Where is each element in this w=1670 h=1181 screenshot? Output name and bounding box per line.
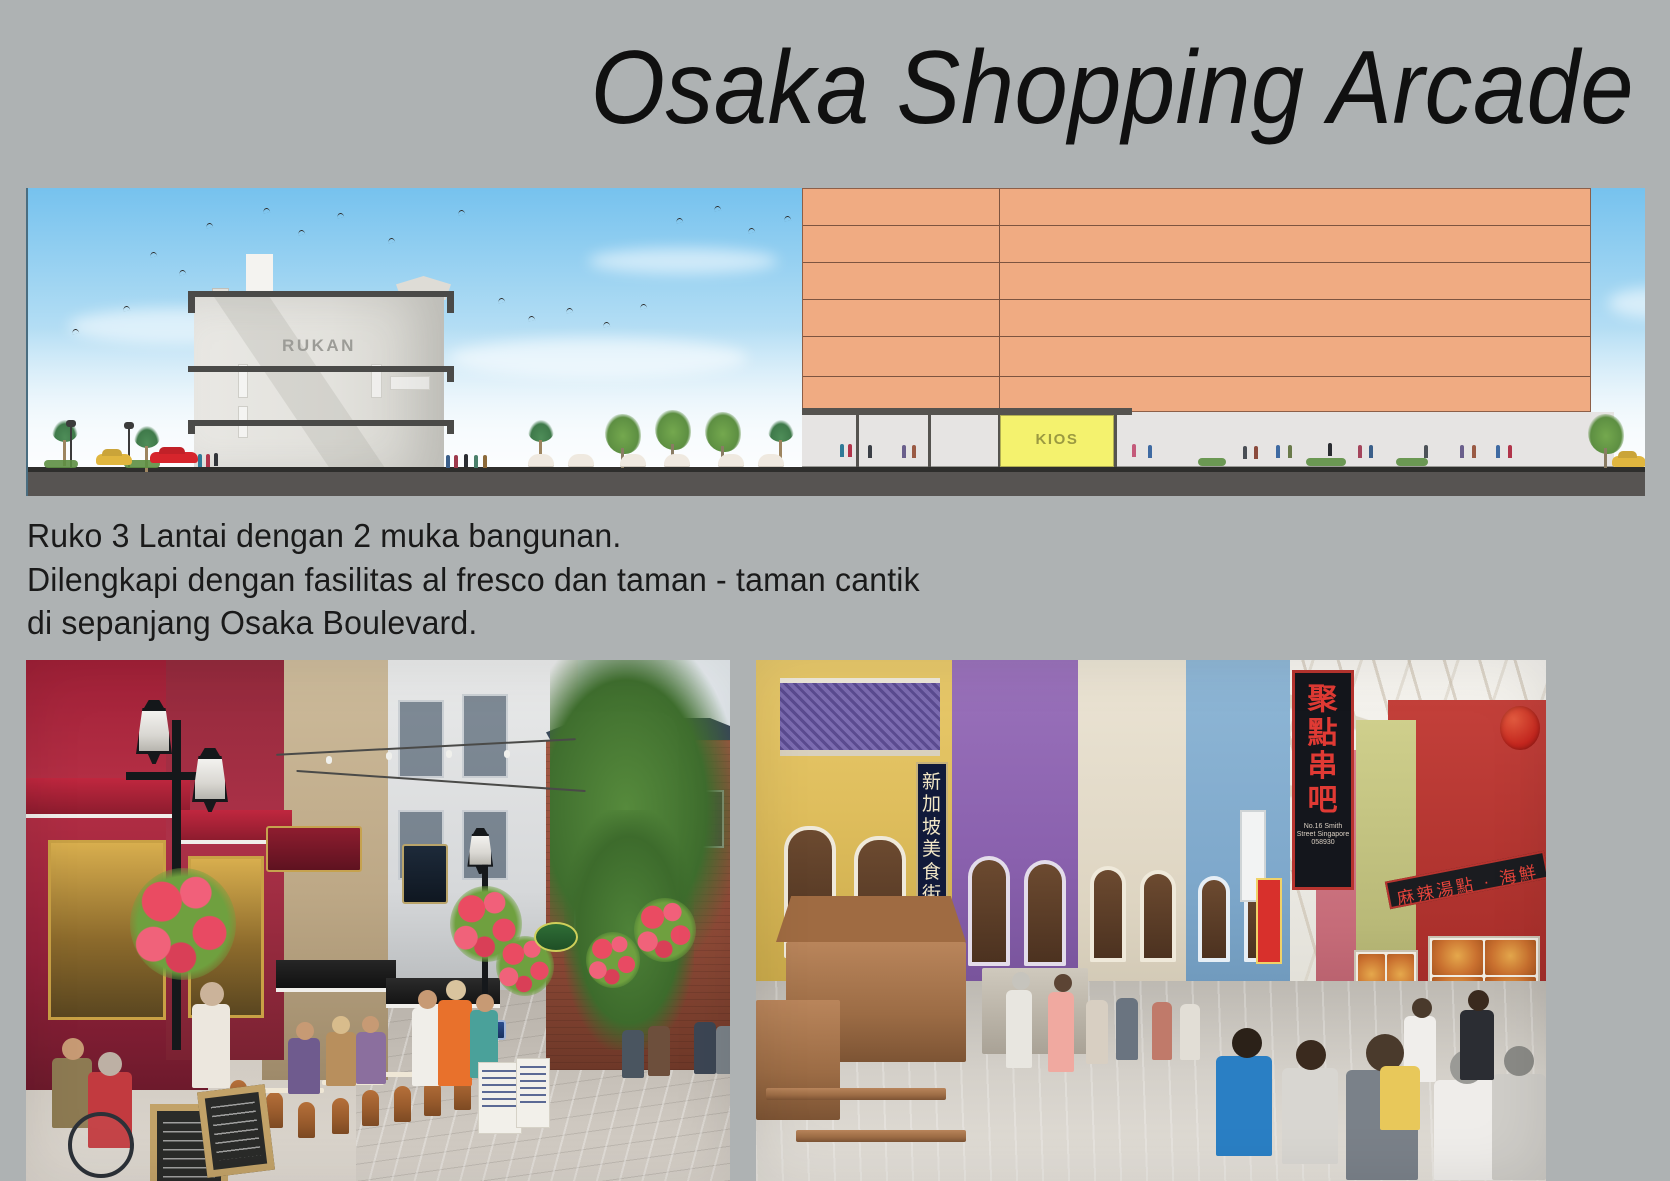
person-figure xyxy=(1328,443,1332,456)
person-head xyxy=(62,1038,84,1060)
person-figure xyxy=(1180,1004,1200,1060)
string-light-bulb xyxy=(386,752,392,760)
person-figure xyxy=(1472,445,1476,458)
description-line-3: di sepanjang Osaka Boulevard. xyxy=(27,601,920,645)
shop-sign xyxy=(266,826,362,872)
vertical-shop-sign-red: 聚點串吧 No.16 Smith Street Singapore 058930 xyxy=(1292,670,1354,890)
person-figure xyxy=(1369,445,1373,458)
person-figure xyxy=(1460,445,1464,458)
parked-car xyxy=(150,452,198,463)
wheelchair xyxy=(68,1112,134,1178)
person-head xyxy=(446,980,466,1000)
building-window xyxy=(462,694,508,778)
cafe-umbrella xyxy=(528,454,554,466)
street-lantern xyxy=(130,700,178,766)
cafe-chair xyxy=(298,1102,315,1138)
food-stall-counter xyxy=(756,1000,840,1120)
person-figure xyxy=(902,445,906,458)
cafe-umbrella xyxy=(568,454,594,466)
person-figure xyxy=(1216,1056,1272,1156)
hanging-flower-basket xyxy=(586,932,640,988)
bird-icon xyxy=(72,329,80,335)
street-lantern xyxy=(186,748,234,814)
person-head xyxy=(296,1022,314,1040)
shop-sign xyxy=(534,922,578,952)
person-figure xyxy=(1282,1068,1338,1164)
retail-facade-block xyxy=(802,188,1591,412)
facade-band-line xyxy=(803,376,1590,377)
vertical-shop-sign-red-subtitle: No.16 Smith Street Singapore 058930 xyxy=(1295,823,1351,846)
person-figure xyxy=(1116,998,1138,1060)
bird-icon xyxy=(640,304,648,310)
person-figure xyxy=(483,455,487,468)
person-figure xyxy=(1086,1000,1108,1064)
dining-table xyxy=(796,1130,966,1142)
paper-lantern xyxy=(1500,706,1540,750)
shop-awning xyxy=(276,960,396,992)
page-title: Osaka Shopping Arcade xyxy=(131,34,1634,143)
shop-awning xyxy=(26,778,190,818)
person-figure xyxy=(848,444,852,457)
cafe-chair xyxy=(394,1086,411,1122)
person-figure xyxy=(214,453,218,466)
person-figure xyxy=(1424,445,1428,458)
rukan-column xyxy=(447,420,454,434)
person-figure xyxy=(1148,445,1152,458)
shrub xyxy=(44,460,78,468)
string-light-bulb xyxy=(504,750,510,758)
person-head xyxy=(1296,1040,1326,1070)
person-head xyxy=(1504,1046,1534,1076)
person-head xyxy=(1412,998,1432,1018)
rukan-column xyxy=(188,420,195,434)
shophouse-balcony xyxy=(780,678,940,756)
bird-icon xyxy=(206,223,214,229)
person-figure xyxy=(446,455,450,468)
dining-table xyxy=(766,1088,946,1100)
shophouse-arched-window xyxy=(1140,870,1176,962)
description-line-1: Ruko 3 Lantai dengan 2 muka bangunan. xyxy=(27,514,920,558)
person-figure xyxy=(1132,444,1136,457)
retail-unit-divider xyxy=(856,415,859,467)
bird-icon xyxy=(566,308,574,314)
bird-icon xyxy=(748,228,756,234)
bird-icon xyxy=(603,322,611,328)
person-figure xyxy=(694,1022,716,1074)
person-figure xyxy=(192,1004,230,1088)
person-figure xyxy=(474,455,478,468)
cloud xyxy=(448,338,748,378)
person-figure xyxy=(1288,445,1292,458)
string-light-bulb xyxy=(446,750,452,758)
bird-icon xyxy=(388,238,396,244)
retail-canopy xyxy=(802,408,1132,415)
person-head xyxy=(476,994,494,1012)
parked-car xyxy=(1612,456,1645,467)
facade-band-line xyxy=(803,225,1590,226)
shrub xyxy=(1198,458,1226,466)
person-figure xyxy=(1508,445,1512,458)
person-figure xyxy=(438,1000,472,1086)
string-light-bulb xyxy=(326,756,332,764)
cafe-umbrella xyxy=(620,454,646,466)
bird-icon xyxy=(714,206,722,212)
person-figure xyxy=(912,445,916,458)
rukan-building-label: RUKAN xyxy=(194,336,444,356)
bird-icon xyxy=(123,306,131,312)
al-fresco-dining-street-photo xyxy=(26,660,730,1181)
person-figure xyxy=(1006,990,1032,1068)
person-head xyxy=(332,1016,350,1034)
parked-car xyxy=(96,454,132,465)
bird-icon xyxy=(498,298,506,304)
shrub xyxy=(1396,458,1428,466)
retail-unit-divider xyxy=(928,415,931,467)
rukan-window xyxy=(390,376,430,390)
ground-plane xyxy=(28,472,1645,496)
person-head xyxy=(1012,972,1030,990)
person-figure xyxy=(648,1026,670,1076)
shrub xyxy=(1306,458,1346,466)
food-stall-roof xyxy=(776,896,966,942)
vertical-shop-sign-red-text: 聚點串吧 xyxy=(1308,683,1339,817)
street-lantern xyxy=(463,828,498,876)
retail-unit-divider xyxy=(1114,415,1117,467)
person-head xyxy=(98,1052,122,1076)
person-head xyxy=(362,1016,379,1033)
person-figure xyxy=(622,1030,644,1078)
person-figure xyxy=(1434,1080,1496,1180)
person-figure xyxy=(1048,992,1074,1072)
description-line-2: Dilengkapi dengan fasilitas al fresco da… xyxy=(27,558,920,602)
cafe-umbrella xyxy=(758,454,784,466)
bird-icon xyxy=(676,218,684,224)
cafe-chair xyxy=(332,1098,349,1134)
person-figure xyxy=(1380,1066,1420,1130)
description-text: Ruko 3 Lantai dengan 2 muka bangunan. Di… xyxy=(27,514,920,645)
rukan-floor-line xyxy=(188,420,454,426)
rukan-column xyxy=(188,291,195,313)
person-figure xyxy=(1276,445,1280,458)
person-figure xyxy=(1152,1002,1172,1060)
cloud xyxy=(588,248,778,274)
cafe-umbrella xyxy=(718,454,744,466)
cafe-umbrella xyxy=(664,454,690,466)
person-figure xyxy=(464,454,468,467)
bird-icon xyxy=(179,270,187,276)
facade-vertical-divider xyxy=(999,189,1000,411)
person-figure xyxy=(326,1032,356,1086)
rukan-column xyxy=(447,291,454,313)
rukan-parapet-line xyxy=(194,291,448,297)
bird-icon xyxy=(528,316,536,322)
person-figure xyxy=(1243,446,1247,459)
person-figure xyxy=(288,1038,320,1094)
hanging-flower-basket xyxy=(634,898,696,962)
promo-poster-sign xyxy=(516,1058,550,1128)
bird-icon xyxy=(263,208,271,214)
person-head xyxy=(418,990,437,1009)
person-figure xyxy=(1496,445,1500,458)
facade-band-line xyxy=(803,262,1590,263)
bird-icon xyxy=(784,216,792,222)
hanging-flower-basket xyxy=(130,868,236,980)
person-figure xyxy=(454,455,458,468)
kiosk-label: KIOS xyxy=(1000,431,1114,448)
shophouse-arched-window xyxy=(1198,876,1230,962)
cafe-chair xyxy=(362,1090,379,1126)
chalkboard-menu-sign xyxy=(197,1084,275,1178)
person-head xyxy=(1468,990,1489,1011)
person-figure xyxy=(840,444,844,457)
cloud xyxy=(1608,288,1645,318)
person-figure xyxy=(716,1026,730,1074)
person-figure xyxy=(1460,1010,1494,1080)
architectural-elevation-rendering: RUKAN KIOS xyxy=(26,188,1645,496)
bird-icon xyxy=(337,213,345,219)
rukan-column xyxy=(447,366,454,382)
person-head xyxy=(1054,974,1072,992)
person-figure xyxy=(206,454,210,467)
bird-icon xyxy=(150,252,158,258)
covered-food-street-photo: 新加坡美食街 XO 聚點串吧 No.16 Smith Street Singap… xyxy=(756,660,1546,1181)
shophouse-arched-window xyxy=(1090,866,1126,962)
bird-icon xyxy=(458,210,466,216)
building-window xyxy=(398,700,444,778)
vertical-shop-sign-yellow xyxy=(1256,878,1282,964)
shop-sign xyxy=(402,844,448,904)
person-head xyxy=(1232,1028,1262,1058)
shophouse-arched-window xyxy=(968,856,1010,966)
person-figure xyxy=(356,1032,386,1084)
person-figure xyxy=(198,454,202,467)
facade-band-line xyxy=(803,299,1590,300)
person-head xyxy=(200,982,224,1006)
rukan-floor-line xyxy=(188,366,454,372)
bird-icon xyxy=(298,230,306,236)
person-figure xyxy=(1492,1074,1546,1180)
facade-band-line xyxy=(803,336,1590,337)
person-figure xyxy=(1358,445,1362,458)
shophouse-arched-window xyxy=(1024,860,1066,966)
person-figure xyxy=(868,445,872,458)
person-figure xyxy=(1254,446,1258,459)
